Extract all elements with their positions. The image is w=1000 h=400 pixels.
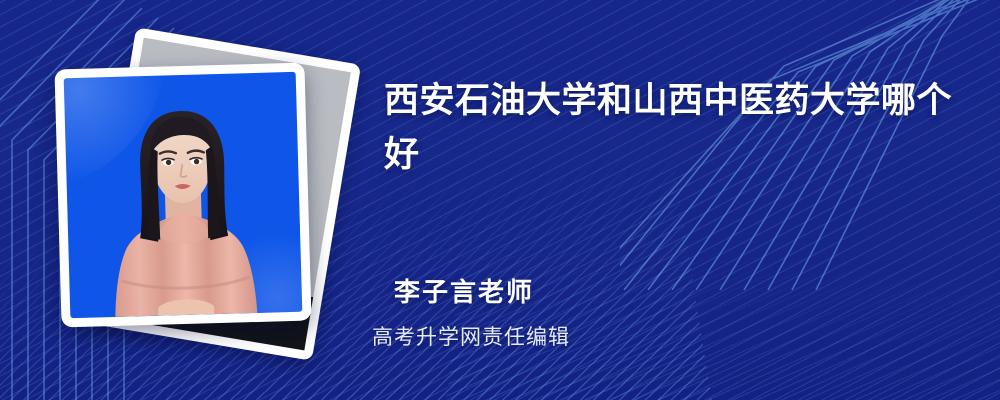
author-id-photo bbox=[64, 72, 303, 318]
photo-card-front bbox=[54, 63, 311, 328]
author-role: 高考升学网责任编辑 bbox=[372, 321, 570, 351]
article-banner: 西安石油大学和山西中医药大学哪个好 李子言老师 高考升学网责任编辑 bbox=[0, 0, 1000, 400]
article-title: 西安石油大学和山西中医药大学哪个好 bbox=[384, 74, 964, 182]
author-portrait-illustration bbox=[82, 98, 284, 317]
author-photo-card-stack bbox=[58, 44, 358, 356]
author-name: 李子言老师 bbox=[394, 272, 534, 309]
